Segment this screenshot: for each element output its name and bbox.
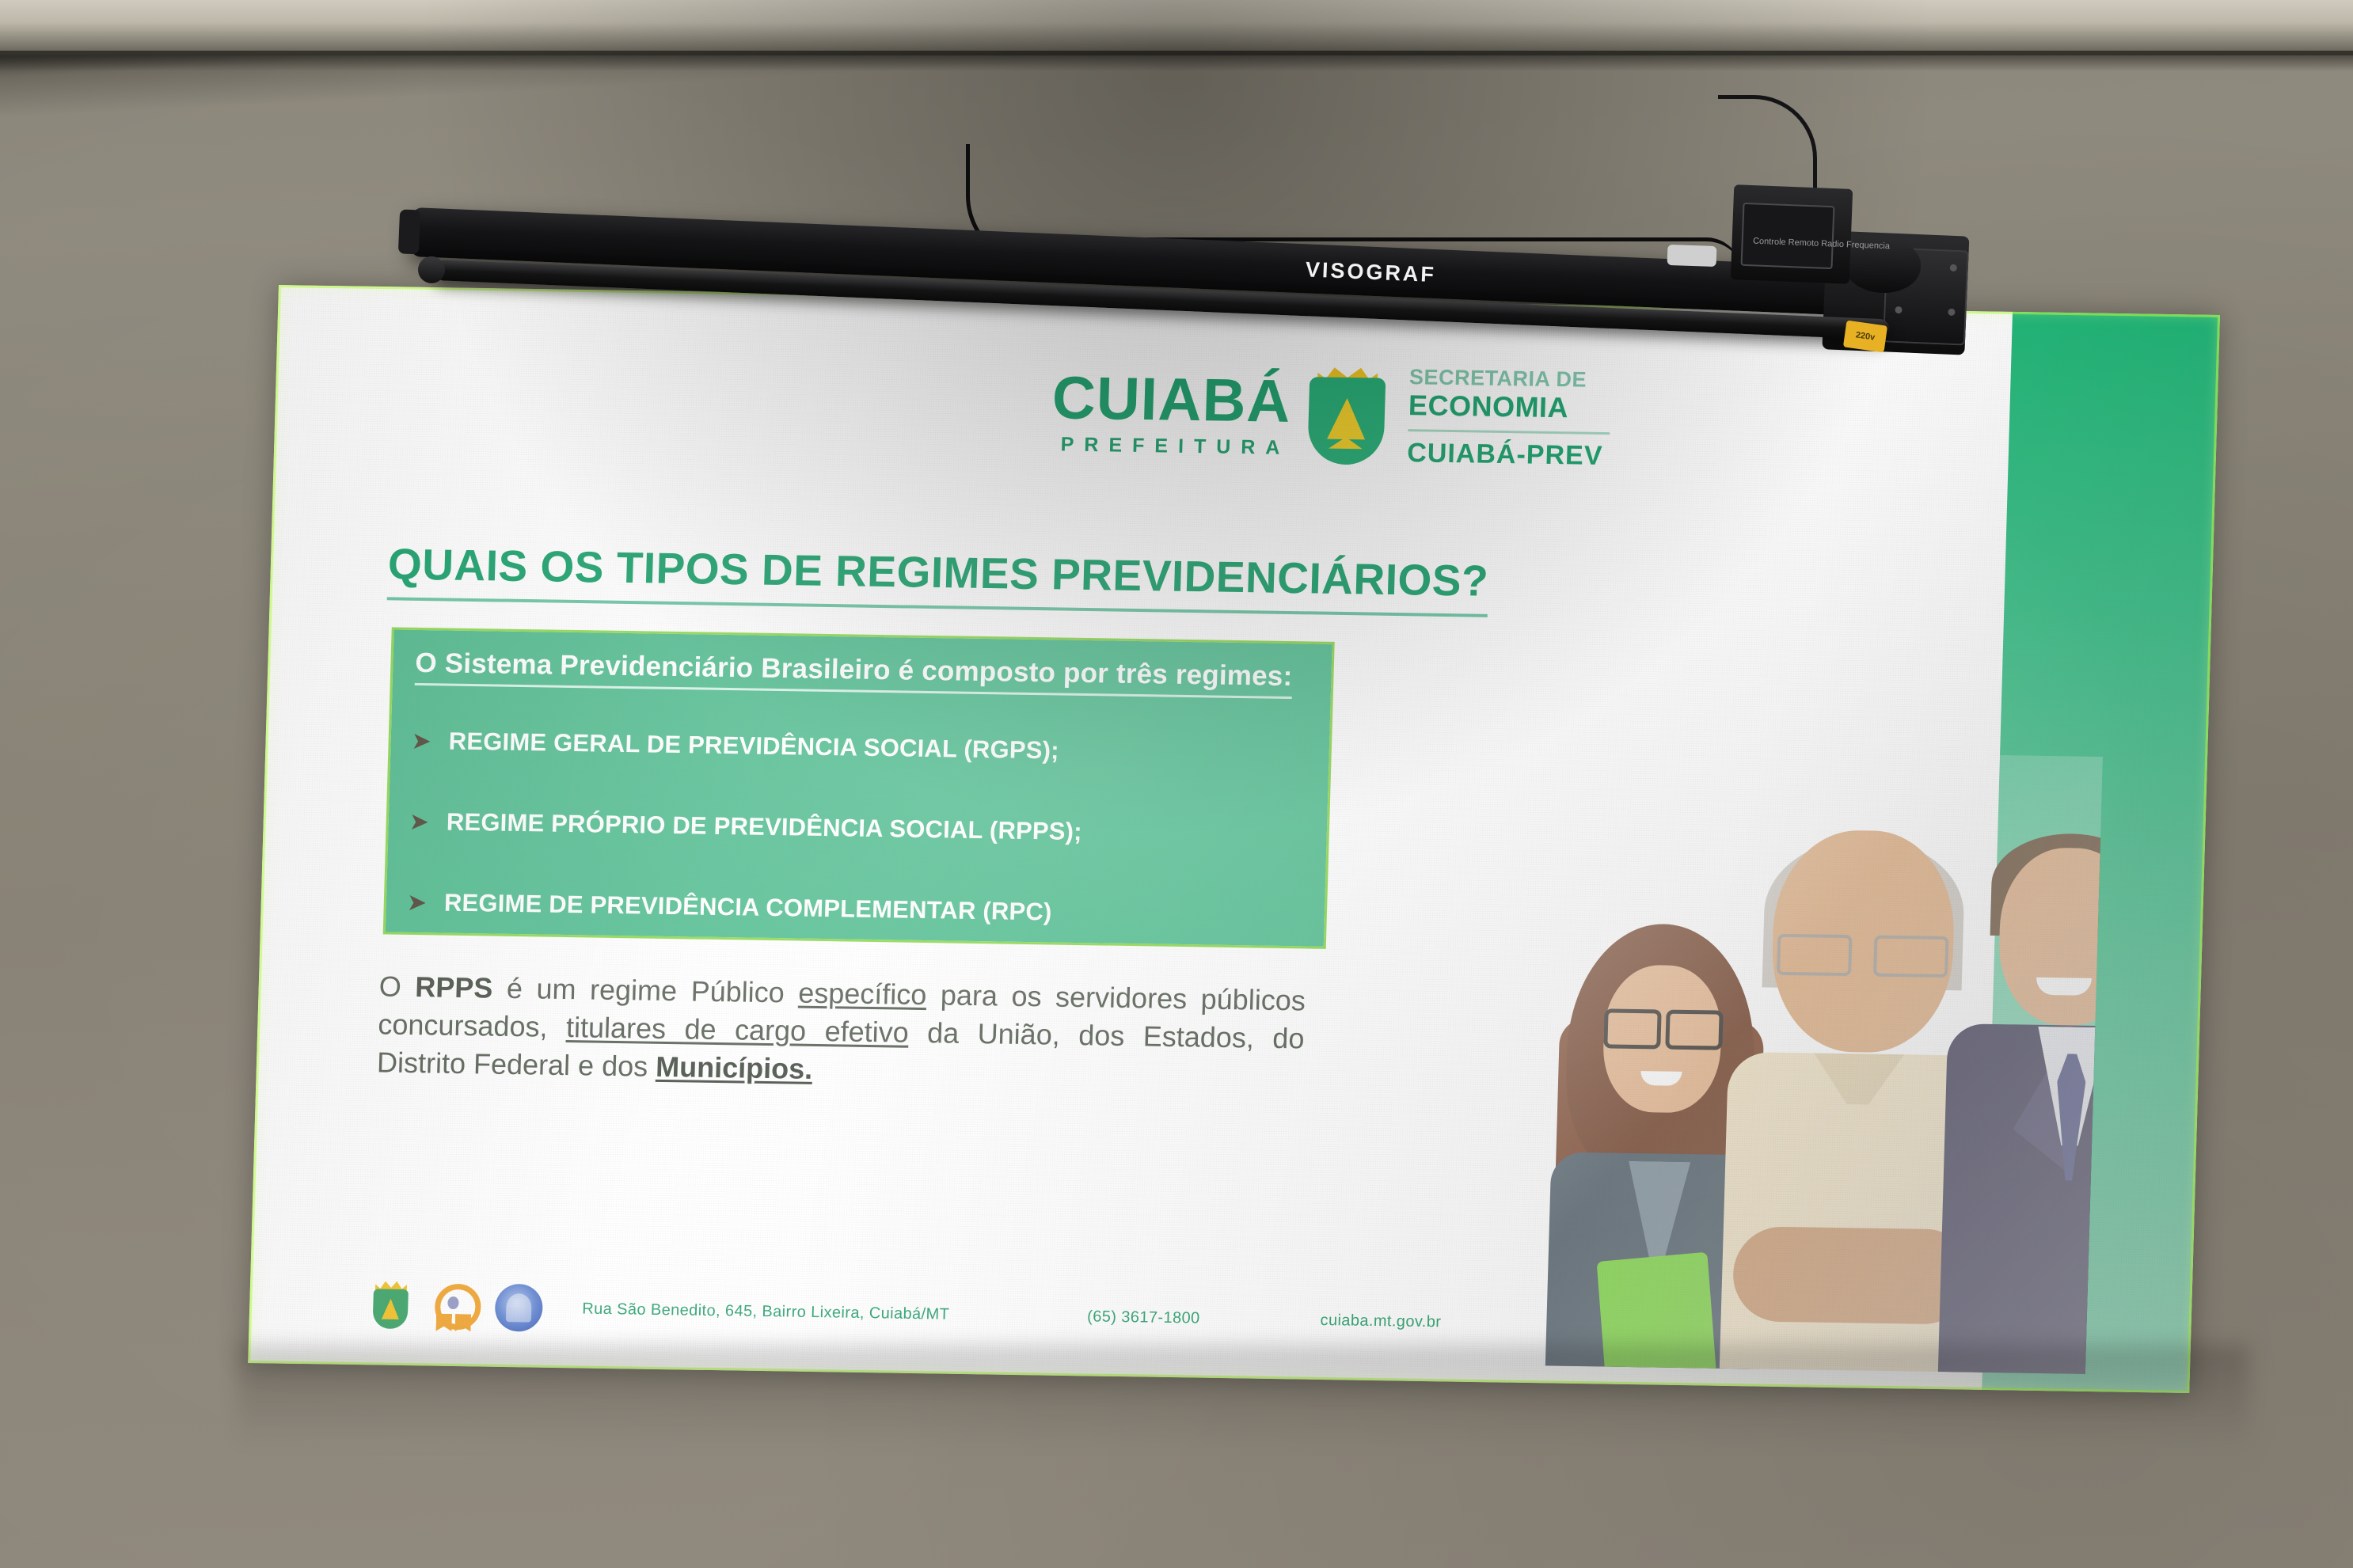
- list-item-label: REGIME DE PREVIDÊNCIA COMPLEMENTAR (RPC): [443, 889, 1052, 927]
- slide-title: QUAIS OS TIPOS DE REGIMES PREVIDENCIÁRIO…: [387, 538, 1489, 617]
- city-name: CUIABÁ: [1051, 368, 1292, 432]
- list-item: ➤ REGIME PRÓPRIO DE PREVIDÊNCIA SOCIAL (…: [409, 807, 1312, 850]
- secretariat-divider: [1408, 429, 1610, 435]
- blue-circle-seal-icon: [494, 1284, 543, 1332]
- people-photo: [1539, 748, 2103, 1374]
- para-bold-municipios: Municípios.: [656, 1050, 813, 1085]
- secretariat-line2: ECONOMIA: [1408, 391, 1610, 424]
- voltage-plug: 220v: [1843, 321, 1887, 353]
- arrow-bullet-icon: ➤: [411, 730, 431, 754]
- city-subtitle: PREFEITURA: [1060, 435, 1290, 457]
- glasses-icon: [1604, 1008, 1724, 1042]
- cuiaba-wordmark: CUIABÁ PREFEITURA: [1050, 368, 1292, 458]
- para-underline-titulares: titulares de cargo efetivo: [565, 1011, 909, 1049]
- green-box-heading: O Sistema Previdenciário Brasileiro é co…: [415, 647, 1293, 699]
- secretariat-block: SECRETARIA DE ECONOMIA CUIABÁ-PREV: [1407, 366, 1612, 471]
- person-young-man: [1943, 826, 2103, 1374]
- list-item: ➤ REGIME GERAL DE PREVIDÊNCIA SOCIAL (RG…: [411, 727, 1314, 769]
- cuiaba-shield-seal-icon: [367, 1281, 413, 1331]
- para-part: O: [378, 970, 416, 1003]
- arrow-icon: [1327, 398, 1366, 440]
- slide-header-logo: CUIABÁ PREFEITURA SECRETARIA DE ECONOMIA…: [1050, 360, 1611, 471]
- footer-address: Rua São Benedito, 645, Bairro Lixeira, C…: [582, 1300, 950, 1323]
- housing-end-cap: [398, 209, 420, 254]
- body-paragraph: O RPPS é um regime Público específico pa…: [376, 967, 1306, 1095]
- para-underline-especifico: específico: [798, 977, 927, 1012]
- glasses-icon: [1777, 934, 1948, 971]
- para-part: é um regime Público: [492, 972, 799, 1009]
- footer-phone: (65) 3617-1800: [1087, 1308, 1200, 1327]
- para-bold-rpps: RPPS: [415, 970, 493, 1004]
- footer-website: cuiaba.mt.gov.br: [1320, 1311, 1441, 1331]
- list-item-label: REGIME GERAL DE PREVIDÊNCIA SOCIAL (RGPS…: [448, 727, 1059, 765]
- green-content-box: O Sistema Previdenciário Brasileiro é co…: [383, 627, 1335, 948]
- wall-shadow: [238, 1346, 2248, 1448]
- arrow-bullet-icon: ➤: [409, 811, 429, 834]
- list-item: ➤ REGIME DE PREVIDÊNCIA COMPLEMENTAR (RP…: [406, 888, 1310, 931]
- projector-screen-brand: VISOGRAF: [1305, 257, 1436, 287]
- secretariat-line3: CUIABÁ-PREV: [1407, 439, 1610, 471]
- slide-surface: CUIABÁ PREFEITURA SECRETARIA DE ECONOMIA…: [248, 285, 2220, 1393]
- cable-ferrite: [1667, 245, 1717, 267]
- list-item-label: REGIME PRÓPRIO DE PREVIDÊNCIA SOCIAL (RP…: [446, 808, 1082, 846]
- arrow-bullet-icon: ➤: [406, 891, 427, 915]
- secretariat-line1: SECRETARIA DE: [1409, 366, 1612, 391]
- projection-screen: CUIABÁ PREFEITURA SECRETARIA DE ECONOMIA…: [0, 0, 2353, 1568]
- award-ribbon-seal-icon: [431, 1282, 477, 1332]
- bottom-bar-cap: [417, 256, 445, 283]
- cuiaba-coat-of-arms-icon: [1307, 366, 1386, 465]
- room-scene: CUIABÁ PREFEITURA SECRETARIA DE ECONOMIA…: [0, 0, 2353, 1568]
- regime-list: ➤ REGIME GERAL DE PREVIDÊNCIA SOCIAL (RG…: [405, 727, 1314, 983]
- plug-label: 220v: [1843, 321, 1887, 353]
